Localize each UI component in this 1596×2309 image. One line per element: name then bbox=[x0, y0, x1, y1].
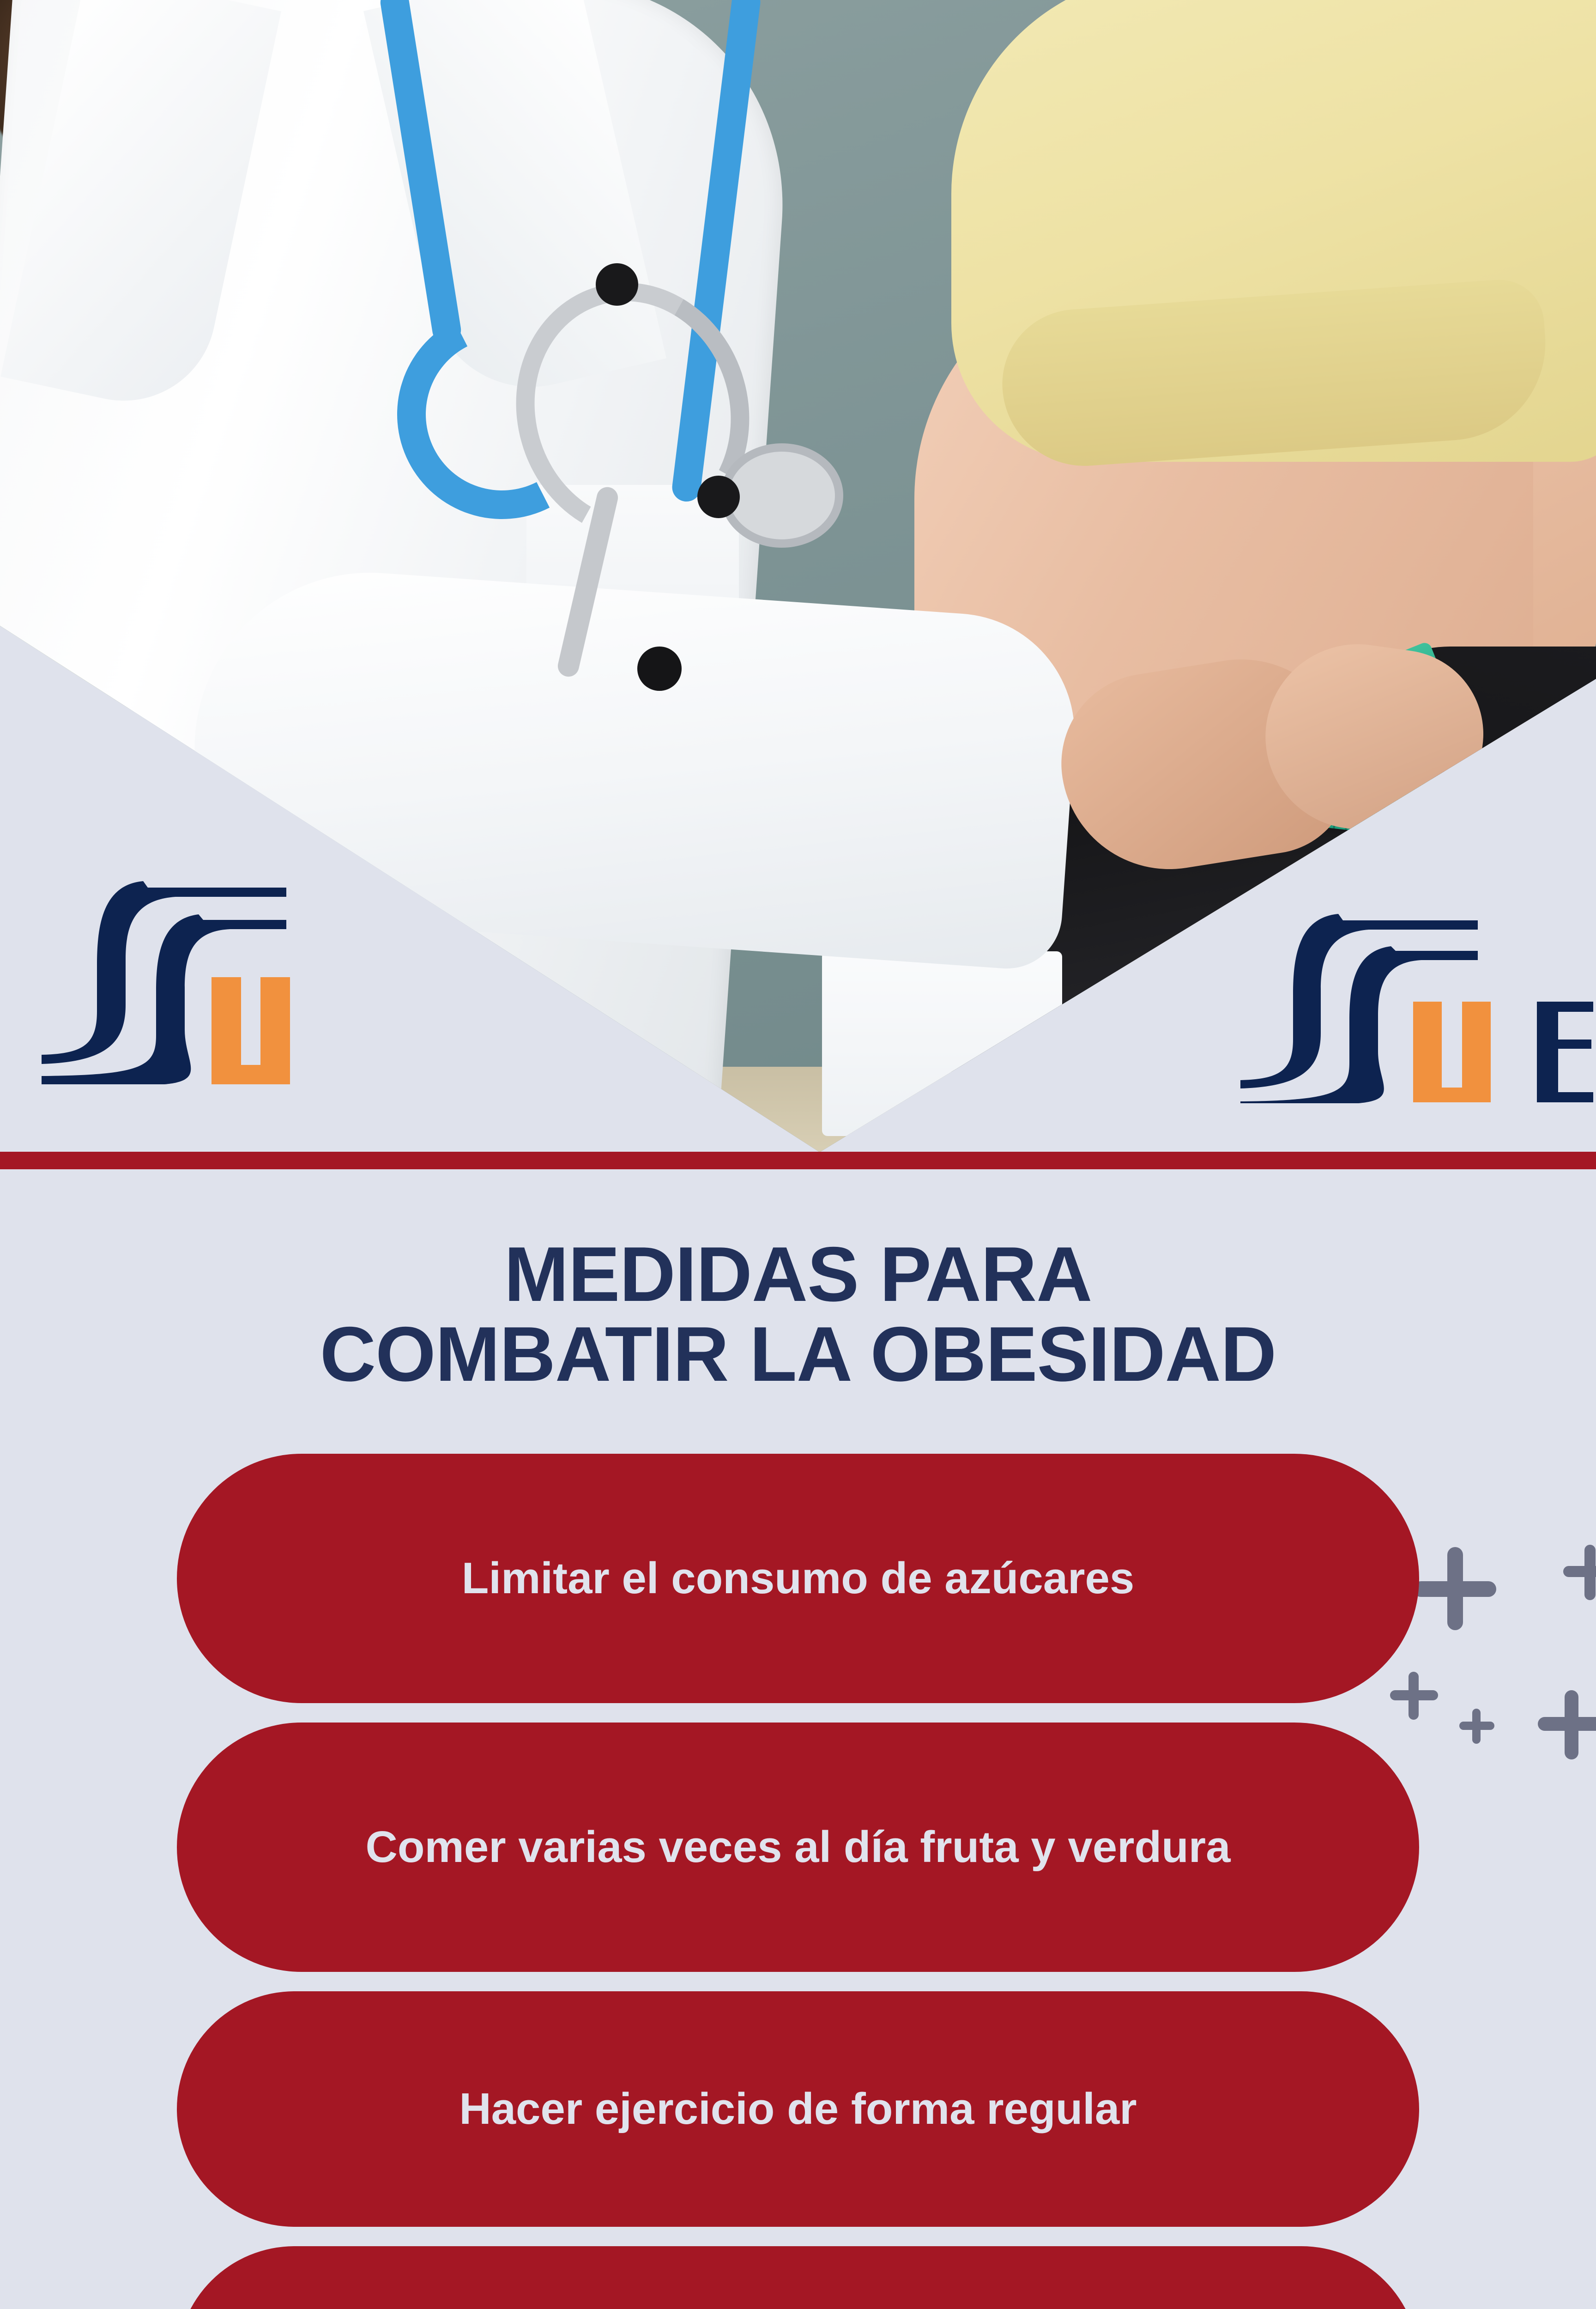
measure-pill-1-label: Limitar el consumo de azúcares bbox=[462, 1552, 1135, 1604]
measure-pill-4[interactable]: Dejar de fumar bbox=[177, 2246, 1419, 2309]
stethoscope-icon bbox=[379, 0, 933, 864]
patient-watch bbox=[1136, 1058, 1215, 1118]
plus-icon-large-right bbox=[1413, 1547, 1496, 1630]
measure-pill-2[interactable]: Comer varias veces al día fruta y verdur… bbox=[177, 1723, 1419, 1972]
ssu-logo bbox=[28, 873, 342, 1085]
measure-pill-1[interactable]: Limitar el consumo de azúcares bbox=[177, 1454, 1419, 1703]
ssue-logo bbox=[1228, 907, 1593, 1104]
plus-icon-small-right-left bbox=[1390, 1672, 1438, 1720]
measure-pill-3[interactable]: Hacer ejercicio de forma regular bbox=[177, 1991, 1419, 2227]
plus-icon-small-right-top bbox=[1563, 1545, 1596, 1600]
plus-icon-tiny-right bbox=[1459, 1709, 1494, 1744]
plus-icon-medium-right bbox=[1538, 1690, 1596, 1759]
measures-list: Limitar el consumo de azúcares Comer var… bbox=[0, 1454, 1596, 2309]
red-divider bbox=[0, 1152, 1596, 1169]
measure-pill-3-label: Hacer ejercicio de forma regular bbox=[459, 2083, 1137, 2135]
doctor-coat-pocket-lower bbox=[822, 951, 1062, 1136]
infographic-poster: MEDIDAS PARA COMBATIR LA OBESIDAD bbox=[0, 0, 1596, 2309]
measure-pill-2-label: Comer varias veces al día fruta y verdur… bbox=[366, 1821, 1231, 1873]
page-title: MEDIDAS PARA COMBATIR LA OBESIDAD bbox=[0, 1234, 1596, 1394]
page-title-line-1: MEDIDAS PARA bbox=[504, 1231, 1092, 1318]
page-title-line-2: COMBATIR LA OBESIDAD bbox=[320, 1311, 1276, 1397]
